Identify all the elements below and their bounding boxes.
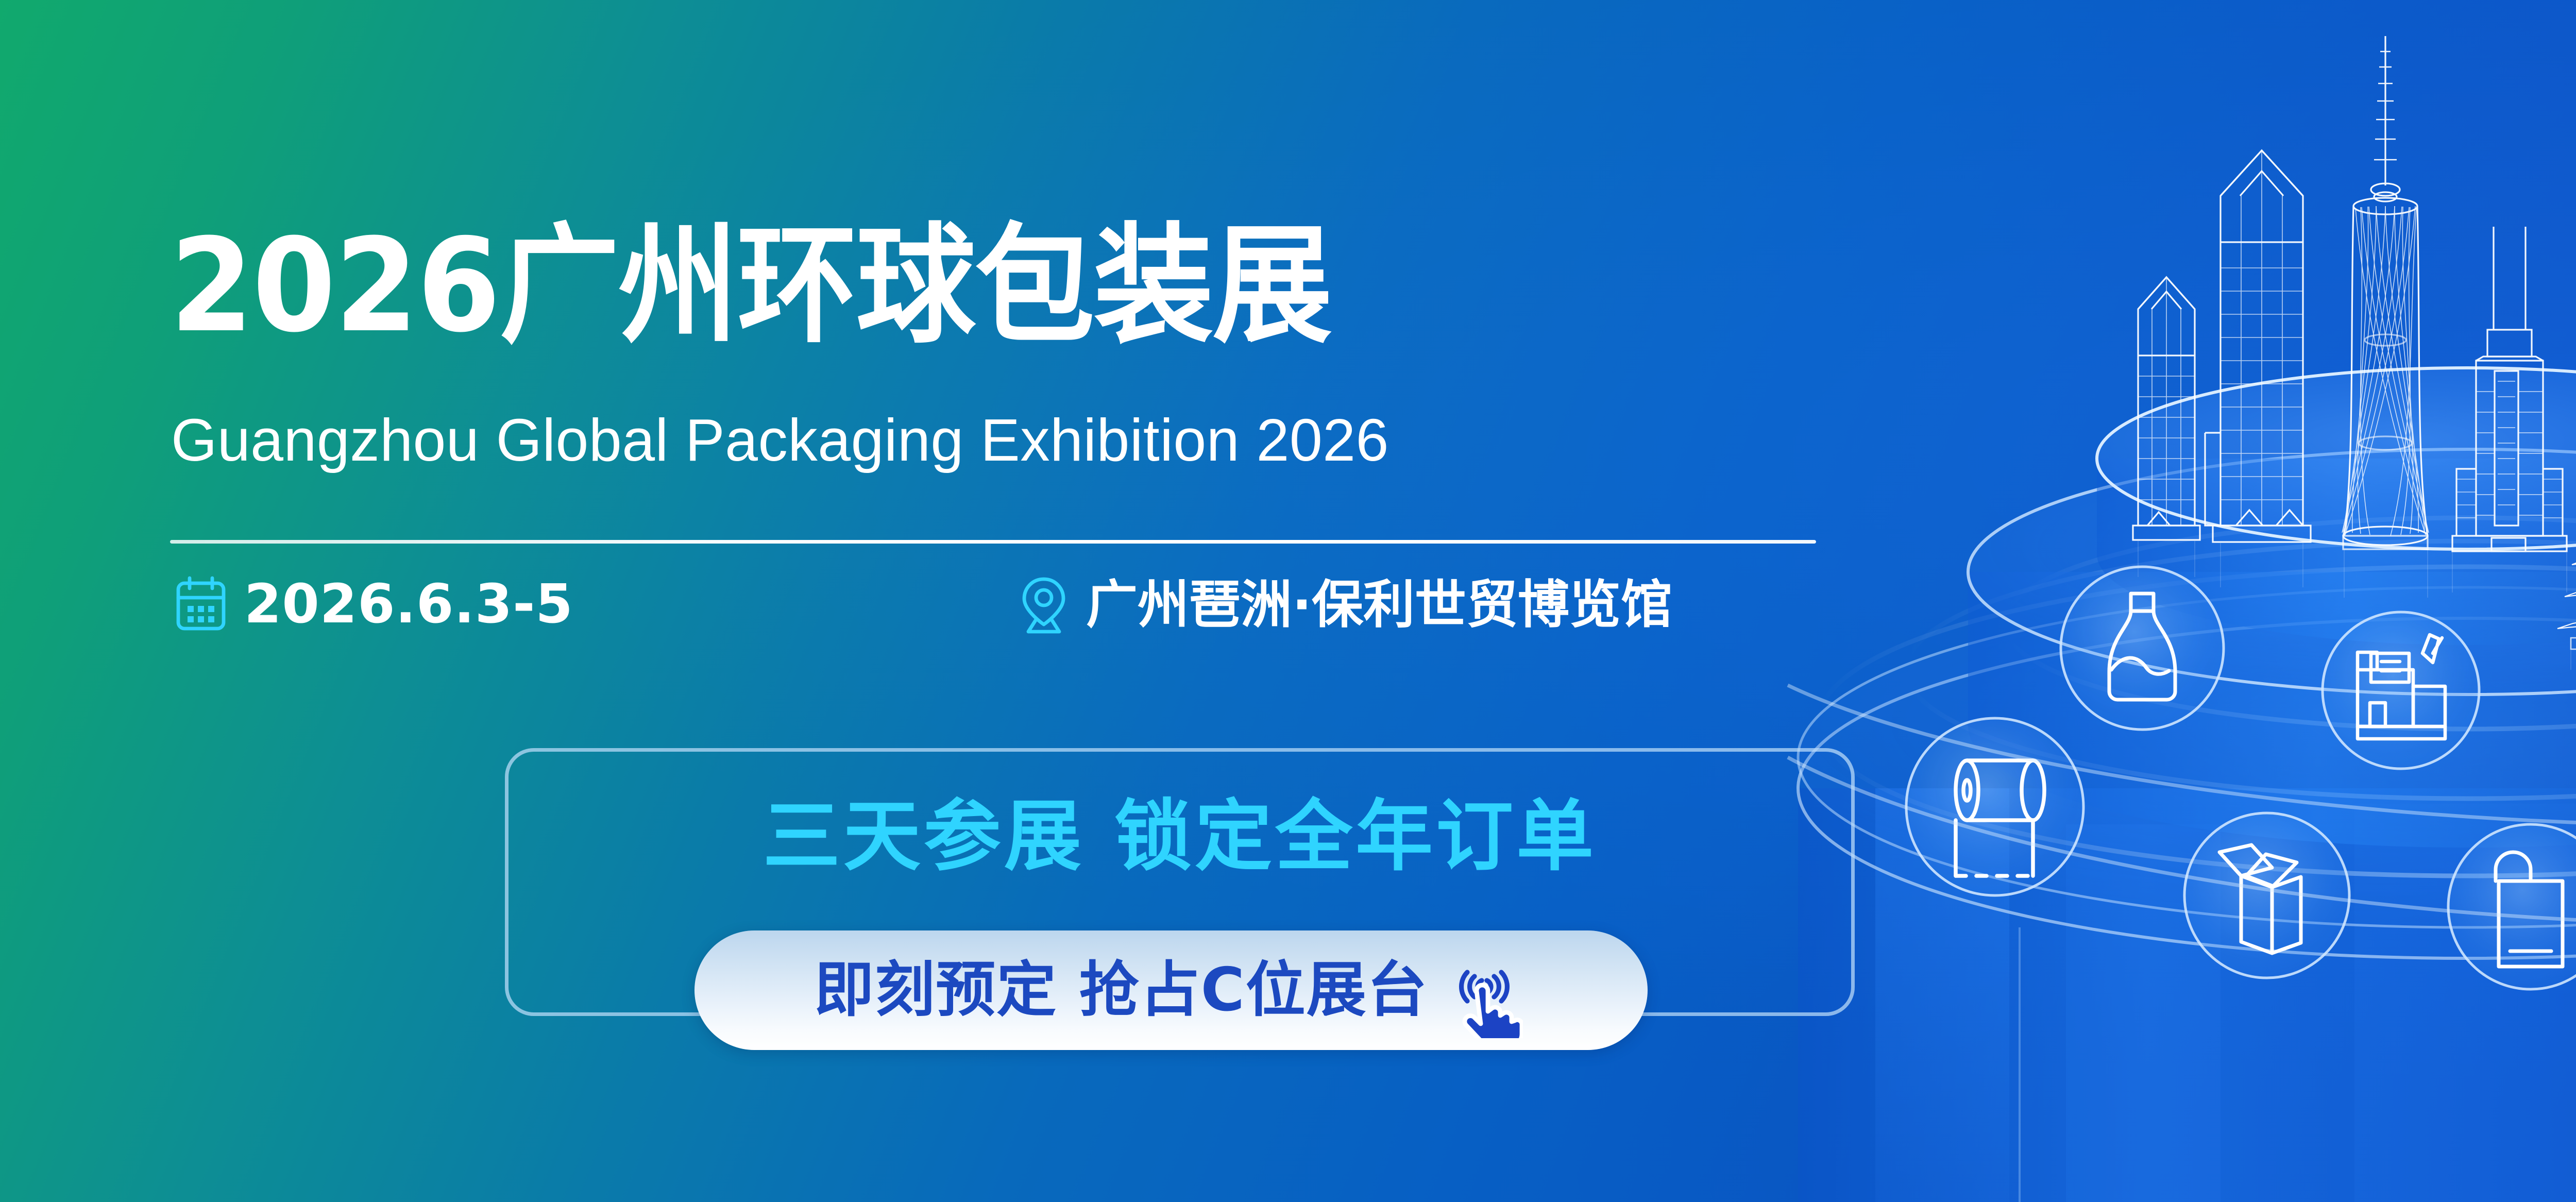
badge-bottle-icon — [2061, 567, 2224, 730]
orbit-arcs — [1819, 518, 2576, 876]
pedestal-rim-outer — [1798, 618, 2576, 958]
headline-block: 2026广州环球包装展 Guangzhou Global Packaging E… — [170, 0, 1850, 1202]
badge-shopping-bag-icon — [2448, 824, 2576, 989]
page-subtitle: Guangzhou Global Packaging Exhibition 20… — [171, 410, 1389, 470]
title-divider — [170, 540, 1816, 544]
badge-open-carton-box-icon — [2184, 813, 2349, 978]
event-date-text: 2026.6.3-5 — [244, 576, 573, 632]
canton-tower — [2342, 36, 2429, 549]
exhibition-banner: 2026广州环球包装展 Guangzhou Global Packaging E… — [0, 0, 2576, 1202]
event-date: 2026.6.3-5 — [174, 575, 573, 633]
pedestal-mid-tier — [1968, 449, 2576, 848]
tap-hand-icon — [1446, 956, 1523, 1038]
event-location-text: 广州琶洲·保利世贸博览馆 — [1086, 577, 1672, 633]
book-booth-button[interactable]: 即刻预定 抢占C位展台 — [694, 930, 1648, 1050]
location-pin-icon — [1018, 575, 1070, 635]
office-tower-pyramid-top — [2205, 150, 2311, 542]
badge-printing-press-icon — [2323, 612, 2479, 769]
page-title: 2026广州环球包装展 — [170, 222, 1331, 350]
illustration-panel — [1777, 0, 2576, 1202]
slogan-text: 三天参展 锁定全年订单 — [509, 797, 1851, 876]
foreground-orbit-arc — [1788, 685, 2576, 924]
badge-paper-roll-icon — [1906, 718, 2083, 895]
twin-antenna-skyscraper — [2452, 227, 2567, 551]
pedestal-top-tier — [2097, 368, 2576, 645]
pedestal-base-cylinder — [1798, 788, 2576, 1202]
calendar-icon — [174, 575, 228, 633]
book-booth-button-label: 即刻预定 抢占C位展台 — [814, 959, 1428, 1021]
event-meta-row: 2026.6.3-5 广州琶洲·保利世贸博览馆 — [170, 572, 1850, 659]
office-tower-small — [2133, 277, 2200, 540]
chinese-pagoda — [2557, 304, 2576, 649]
guangzhou-skyline — [2133, 36, 2576, 670]
event-location: 广州琶洲·保利世贸博览馆 — [1018, 575, 1672, 635]
product-icon-badges — [1906, 562, 2576, 989]
